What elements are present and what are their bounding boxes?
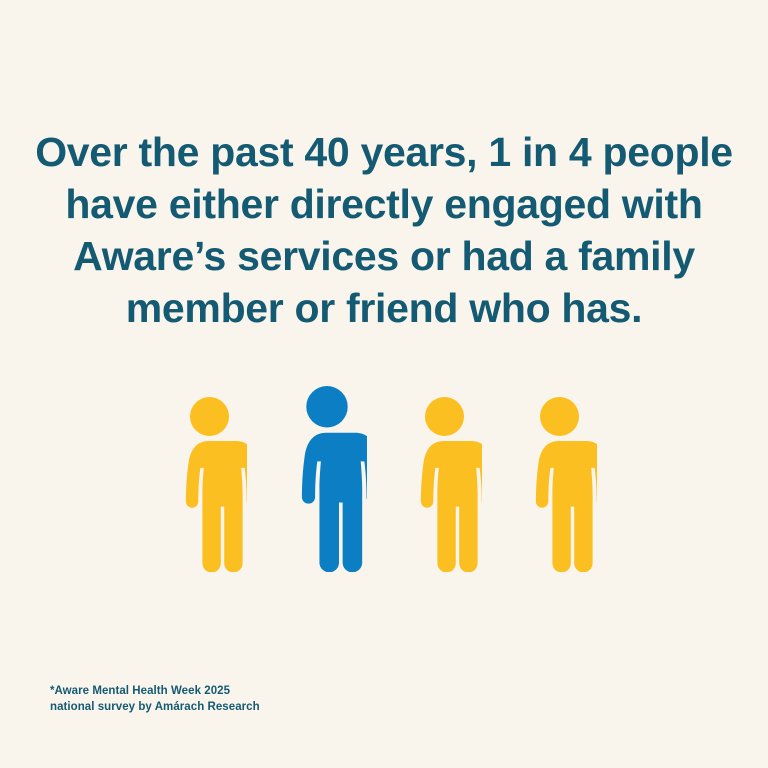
- infographic-canvas: Over the past 40 years, 1 in 4 people ha…: [0, 0, 768, 768]
- footnote-line-1: *Aware Mental Health Week 2025: [50, 684, 260, 700]
- headline-line-3: Aware’s services or had a family: [28, 230, 740, 282]
- person-icon-1: [172, 397, 247, 572]
- headline-line-2: have either directly engaged with: [28, 178, 740, 230]
- footnote-source: *Aware Mental Health Week 2025 national …: [50, 684, 260, 715]
- headline-line-1: Over the past 40 years, 1 in 4 people: [28, 126, 740, 178]
- headline-line-4: member or friend who has.: [28, 282, 740, 334]
- pictogram-row: [0, 382, 768, 572]
- person-icon-4: [522, 397, 597, 572]
- footnote-line-2: national survey by Amárach Research: [50, 700, 260, 716]
- headline: Over the past 40 years, 1 in 4 people ha…: [0, 126, 768, 334]
- person-icon-3: [407, 397, 482, 572]
- person-icon-2-highlighted: [287, 386, 367, 572]
